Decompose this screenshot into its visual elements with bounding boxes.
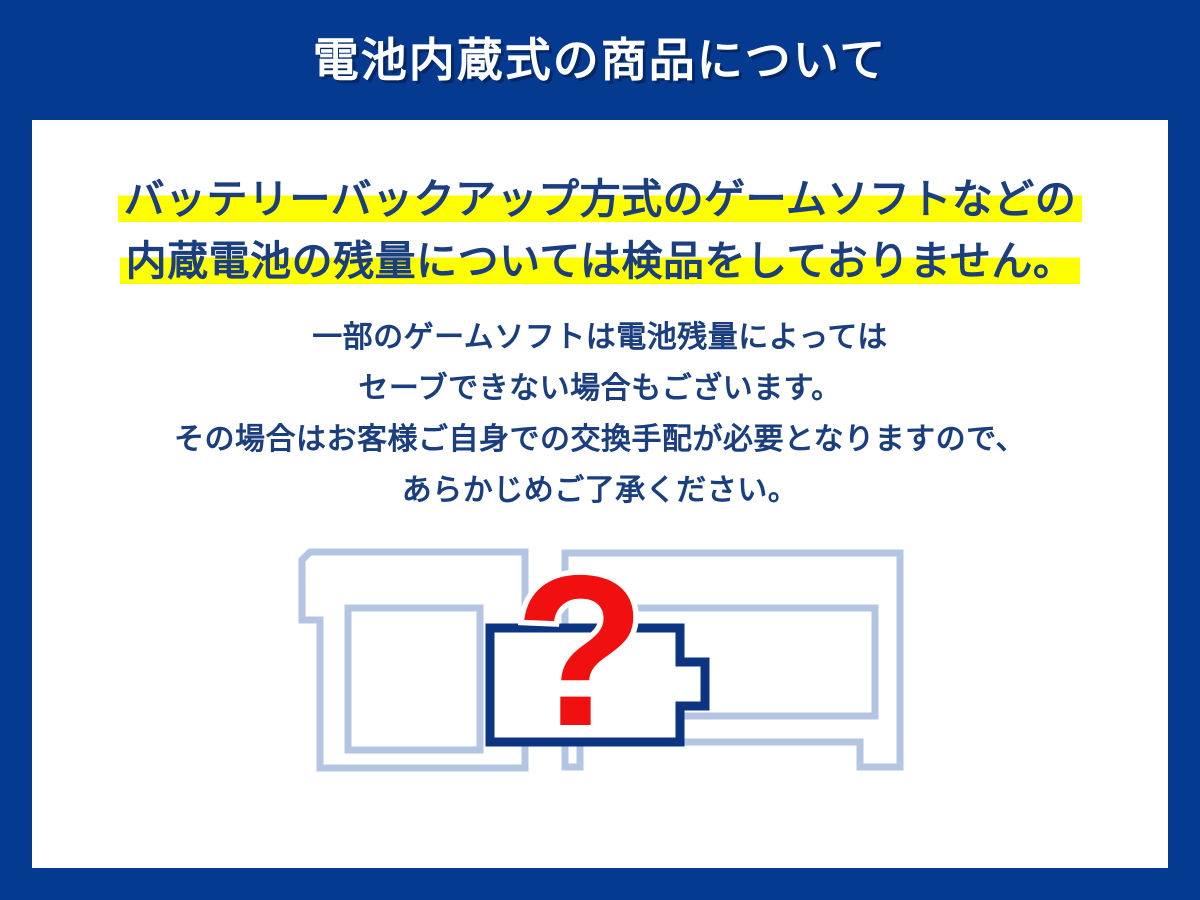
- question-mark-icon: ?: [514, 530, 645, 771]
- body-line: 一部のゲームソフトは電池残量によっては: [32, 312, 1168, 363]
- lead-line: バッテリーバックアップ方式のゲームソフトなどの: [32, 168, 1168, 230]
- page-title: 電池内蔵式の商品について: [313, 37, 888, 83]
- body-line: あらかじめご了承ください。: [32, 465, 1168, 516]
- lead-line-highlight: 内蔵電池の残量については検品をしておりません。: [120, 238, 1081, 284]
- lead-line-highlight: バッテリーバックアップ方式のゲームソフトなどの: [118, 176, 1083, 222]
- lead-line: 内蔵電池の残量については検品をしておりません。: [32, 230, 1168, 292]
- slide-root: 電池内蔵式の商品について バッテリーバックアップ方式のゲームソフトなどの 内蔵電…: [0, 0, 1200, 900]
- content-card: バッテリーバックアップ方式のゲームソフトなどの 内蔵電池の残量については検品をし…: [32, 120, 1168, 868]
- battery-cartridge-illustration: ?: [280, 520, 920, 800]
- body-text-block: 一部のゲームソフトは電池残量によっては セーブできない場合もございます。 その場…: [32, 312, 1168, 516]
- body-line: その場合はお客様ご自身での交換手配が必要となりますので、: [32, 414, 1168, 465]
- body-line: セーブできない場合もございます。: [32, 363, 1168, 414]
- slide-header: 電池内蔵式の商品について: [0, 0, 1200, 120]
- lead-text-block: バッテリーバックアップ方式のゲームソフトなどの 内蔵電池の残量については検品をし…: [32, 168, 1168, 292]
- question-mark-glyph: ?: [514, 530, 645, 771]
